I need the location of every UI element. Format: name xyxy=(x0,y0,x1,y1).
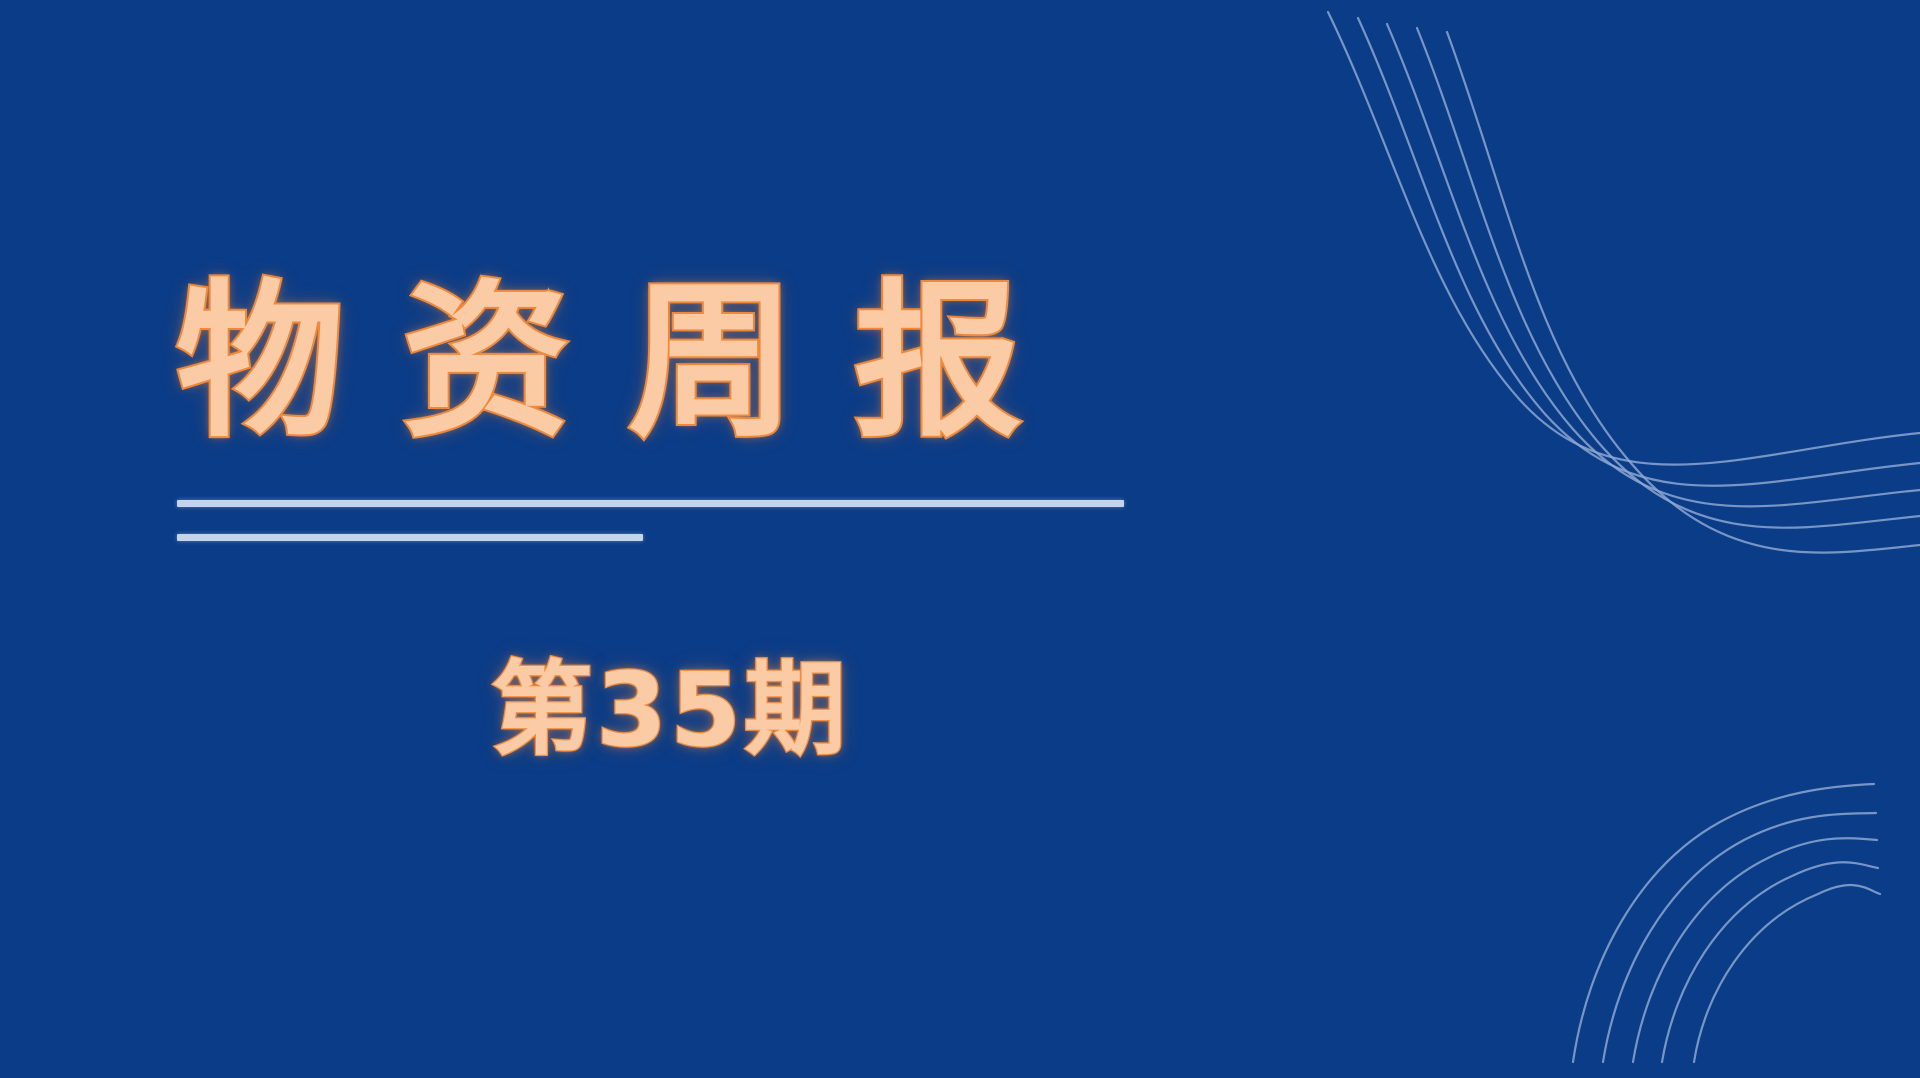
ribbon-curve-1 xyxy=(1328,12,1920,465)
ribbon-arc-4 xyxy=(1662,862,1878,1062)
page-title: 物资周报 xyxy=(176,268,1176,456)
title-underline-group xyxy=(177,500,1177,541)
ribbon-arc-1 xyxy=(1573,784,1874,1062)
ribbon-curve-5 xyxy=(1447,32,1920,553)
ribbon-curve-3 xyxy=(1387,24,1920,506)
ribbon-curve-group-top xyxy=(1328,12,1920,553)
title-underline-short xyxy=(177,534,643,541)
title-block: 物资周报 xyxy=(176,268,1176,456)
ribbon-arc-3 xyxy=(1633,838,1877,1062)
ribbon-curve-4 xyxy=(1417,28,1920,528)
title-slide: 物资周报 第35期 xyxy=(0,0,1920,1078)
subtitle-block: 第35期 xyxy=(0,650,1340,772)
ribbon-arc-group-bottom xyxy=(1573,784,1880,1062)
ribbon-arc-5 xyxy=(1694,885,1880,1062)
issue-subtitle: 第35期 xyxy=(491,650,849,772)
ribbon-arc-2 xyxy=(1603,813,1876,1062)
title-underline-long xyxy=(177,500,1124,507)
ribbon-curve-2 xyxy=(1358,18,1920,486)
